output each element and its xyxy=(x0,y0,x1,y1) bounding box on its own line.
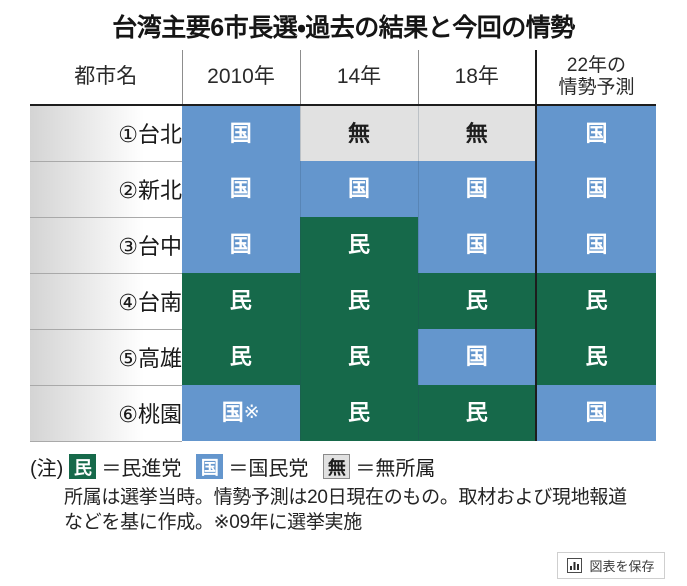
result-cell-2018: 国 xyxy=(418,329,536,385)
result-cell-2014: 民 xyxy=(300,329,418,385)
city-name-cell: ①台北 xyxy=(30,105,182,161)
result-cell-2010: 国※ xyxy=(182,385,300,441)
result-cell-2010: 国 xyxy=(182,161,300,217)
city-name-cell: ②新北 xyxy=(30,161,182,217)
result-cell-2018: 国 xyxy=(418,161,536,217)
party-mark: 民 xyxy=(348,402,370,424)
party-mark: 国 xyxy=(348,178,370,200)
column-header-2022: 22年の 情勢予測 xyxy=(536,50,656,105)
forecast-cell-2022: 国 xyxy=(536,385,656,441)
column-header-city: 都市名 xyxy=(30,50,182,105)
party-mark: 民 xyxy=(585,346,607,368)
legend-label-dpp: ＝民進党 xyxy=(101,452,181,481)
table-row: ⑤高雄 民 民 国 民 xyxy=(30,329,656,385)
forecast-cell-2022: 民 xyxy=(536,329,656,385)
party-mark: 民 xyxy=(466,402,488,424)
party-mark: 民 xyxy=(585,290,607,312)
table-row: ①台北 国 無 無 国 xyxy=(30,105,656,161)
column-header-2022-line1: 22年の xyxy=(537,55,656,77)
party-mark: 民 xyxy=(348,234,370,256)
party-mark: 民 xyxy=(466,290,488,312)
result-cell-2010: 国 xyxy=(182,105,300,161)
save-chart-label: 図表を保存 xyxy=(589,556,654,575)
table-body: ①台北 国 無 無 国 ②新北 国 国 国 国 ③台中 国 民 国 国 ④台南 … xyxy=(30,105,656,441)
party-mark: 国 xyxy=(466,178,488,200)
footnote-line-1: 所属は選挙当時。情勢予測は20日現在のもの。取材および現地報道 xyxy=(64,485,664,510)
legend-badge-min: 民 xyxy=(69,454,96,479)
party-mark: 無 xyxy=(466,123,488,145)
column-header-2010: 2010年 xyxy=(182,50,300,105)
party-mark: 国 xyxy=(466,234,488,256)
result-cell-2010: 民 xyxy=(182,273,300,329)
bar-chart-icon xyxy=(567,558,582,573)
table-row: ⑥桃園 国※ 民 民 国 xyxy=(30,385,656,441)
result-cell-2014: 民 xyxy=(300,273,418,329)
party-mark: 国 xyxy=(230,178,252,200)
table-row: ④台南 民 民 民 民 xyxy=(30,273,656,329)
result-cell-2018: 民 xyxy=(418,273,536,329)
legend-badge-mu: 無 xyxy=(323,454,350,479)
forecast-cell-2022: 民 xyxy=(536,273,656,329)
result-cell-2014: 民 xyxy=(300,385,418,441)
result-cell-2014: 無 xyxy=(300,105,418,161)
city-name-cell: ⑤高雄 xyxy=(30,329,182,385)
party-mark: 民 xyxy=(230,290,252,312)
party-mark: 民 xyxy=(230,346,252,368)
legend-item-dpp: 民 ＝民進党 xyxy=(69,452,184,481)
party-mark: 民 xyxy=(348,290,370,312)
legend-label-independent: ＝無所属 xyxy=(355,452,435,481)
party-mark: 国 xyxy=(585,234,607,256)
city-name-cell: ③台中 xyxy=(30,217,182,273)
legend-item-independent: 無 ＝無所属 xyxy=(323,452,438,481)
party-mark: 国 xyxy=(230,234,252,256)
party-mark: 国 xyxy=(585,178,607,200)
footnote-reference-mark: ※ xyxy=(244,402,260,423)
legend-badge-koku: 国 xyxy=(196,454,223,479)
result-cell-2018: 国 xyxy=(418,217,536,273)
result-cell-2014: 国 xyxy=(300,161,418,217)
column-header-2022-line2: 情勢予測 xyxy=(537,77,656,99)
table-row: ③台中 国 民 国 国 xyxy=(30,217,656,273)
election-results-table: 都市名 2010年 14年 18年 22年の 情勢予測 ①台北 国 無 無 国 … xyxy=(30,50,656,442)
result-cell-2018: 民 xyxy=(418,385,536,441)
forecast-cell-2022: 国 xyxy=(536,105,656,161)
party-mark: 国 xyxy=(230,123,252,145)
column-header-2018: 18年 xyxy=(418,50,536,105)
footnote-line-2: などを基に作成。※09年に選挙実施 xyxy=(64,510,664,535)
legend: (注) 民 ＝民進党 国 ＝国民党 無 ＝無所属 xyxy=(30,452,450,481)
party-mark: 国 xyxy=(466,346,488,368)
result-cell-2010: 民 xyxy=(182,329,300,385)
party-mark: 民 xyxy=(348,346,370,368)
party-mark: 国 xyxy=(585,402,607,424)
forecast-cell-2022: 国 xyxy=(536,161,656,217)
forecast-cell-2022: 国 xyxy=(536,217,656,273)
table-header-row: 都市名 2010年 14年 18年 22年の 情勢予測 xyxy=(30,50,656,105)
city-name-cell: ⑥桃園 xyxy=(30,385,182,441)
page-title: 台湾主要6市長選・過去の結果と今回の情勢 xyxy=(0,11,687,45)
city-name-cell: ④台南 xyxy=(30,273,182,329)
party-mark: 国 xyxy=(222,402,244,424)
footnote: 所属は選挙当時。情勢予測は20日現在のもの。取材および現地報道 などを基に作成。… xyxy=(64,485,664,535)
table-header: 都市名 2010年 14年 18年 22年の 情勢予測 xyxy=(30,50,656,105)
legend-label-kmt: ＝国民党 xyxy=(228,452,308,481)
result-cell-2018: 無 xyxy=(418,105,536,161)
legend-prefix: (注) xyxy=(30,452,63,481)
party-mark: 国 xyxy=(585,123,607,145)
result-cell-2014: 民 xyxy=(300,217,418,273)
column-header-2014: 14年 xyxy=(300,50,418,105)
save-chart-button[interactable]: 図表を保存 xyxy=(557,552,665,579)
result-cell-2010: 国 xyxy=(182,217,300,273)
legend-item-kmt: 国 ＝国民党 xyxy=(196,452,311,481)
table-row: ②新北 国 国 国 国 xyxy=(30,161,656,217)
party-mark: 無 xyxy=(348,123,370,145)
